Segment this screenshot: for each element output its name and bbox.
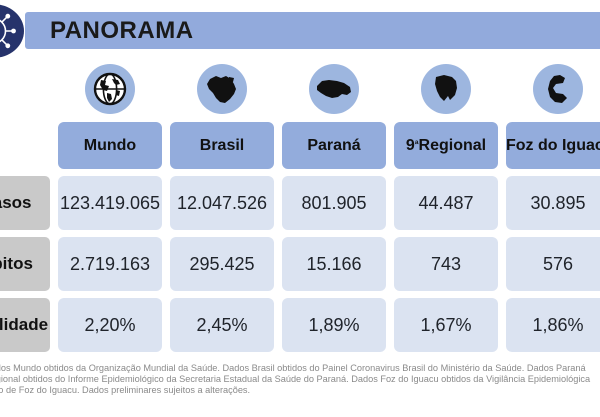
header-row-spacer	[0, 122, 50, 169]
cell-letalidade-brasil: 2,45%	[170, 298, 274, 352]
cell-obitos-regional: 743	[394, 237, 498, 291]
cell-letalidade-parana: 1,89%	[282, 298, 386, 352]
column-icon-foz-do-iguacu	[506, 58, 600, 120]
table-row-obitos: Óbitos 2.719.163 295.425 15.166 743 576	[0, 237, 600, 291]
footnote-line-1: Dados Mundo obtidos da Organização Mundi…	[0, 363, 600, 374]
column-header-foz-do-iguacu[interactable]: Foz do Iguacu	[506, 122, 600, 169]
brazil-map-icon	[197, 64, 247, 114]
column-header-brasil[interactable]: Brasil	[170, 122, 274, 169]
foz-do-iguacu-map-icon	[533, 64, 583, 114]
column-icon-parana	[282, 58, 386, 120]
row-label-letalidade: Letalidade	[0, 298, 50, 352]
cell-casos-parana: 801.905	[282, 176, 386, 230]
cell-letalidade-mundo: 2,20%	[58, 298, 162, 352]
footnote-line-2: Regional obtidos do Informe Epidemiológi…	[0, 374, 600, 385]
footnote-line-3: cípio de Foz do Iguacu. Dados preliminar…	[0, 385, 600, 396]
cell-casos-foz-do-iguacu: 30.895	[506, 176, 600, 230]
column-icon-regional	[394, 58, 498, 120]
footnote: Dados Mundo obtidos da Organização Mundi…	[0, 363, 600, 397]
column-icon-mundo	[58, 58, 162, 120]
cell-obitos-brasil: 295.425	[170, 237, 274, 291]
cell-casos-regional: 44.487	[394, 176, 498, 230]
panorama-panel: PANORAMA	[0, 0, 600, 417]
row-label-obitos: Óbitos	[0, 237, 50, 291]
table-icon-row	[0, 58, 600, 120]
cell-letalidade-regional: 1,67%	[394, 298, 498, 352]
cell-casos-brasil: 12.047.526	[170, 176, 274, 230]
column-header-mundo[interactable]: Mundo	[58, 122, 162, 169]
panorama-table: Mundo Brasil Paraná 9ª Regional Foz do I…	[0, 58, 600, 352]
row-label-casos: Casos	[0, 176, 50, 230]
table-row-casos: Casos 123.419.065 12.047.526 801.905 44.…	[0, 176, 600, 230]
coronavirus-icon	[0, 4, 24, 58]
regional-map-icon	[421, 64, 471, 114]
page-title: PANORAMA	[50, 14, 194, 47]
regional-label-number: 9	[406, 137, 415, 155]
parana-map-icon	[309, 64, 359, 114]
icon-row-spacer	[0, 58, 50, 120]
table-header-row: Mundo Brasil Paraná 9ª Regional Foz do I…	[0, 122, 600, 169]
globe-icon	[85, 64, 135, 114]
cell-casos-mundo: 123.419.065	[58, 176, 162, 230]
cell-obitos-mundo: 2.719.163	[58, 237, 162, 291]
cell-letalidade-foz-do-iguacu: 1,86%	[506, 298, 600, 352]
table-row-letalidade: Letalidade 2,20% 2,45% 1,89% 1,67% 1,86%	[0, 298, 600, 352]
cell-obitos-foz-do-iguacu: 576	[506, 237, 600, 291]
column-header-parana[interactable]: Paraná	[282, 122, 386, 169]
cell-obitos-parana: 15.166	[282, 237, 386, 291]
column-icon-brasil	[170, 58, 274, 120]
regional-label-rest: Regional	[419, 137, 487, 155]
column-header-regional[interactable]: 9ª Regional	[394, 122, 498, 169]
